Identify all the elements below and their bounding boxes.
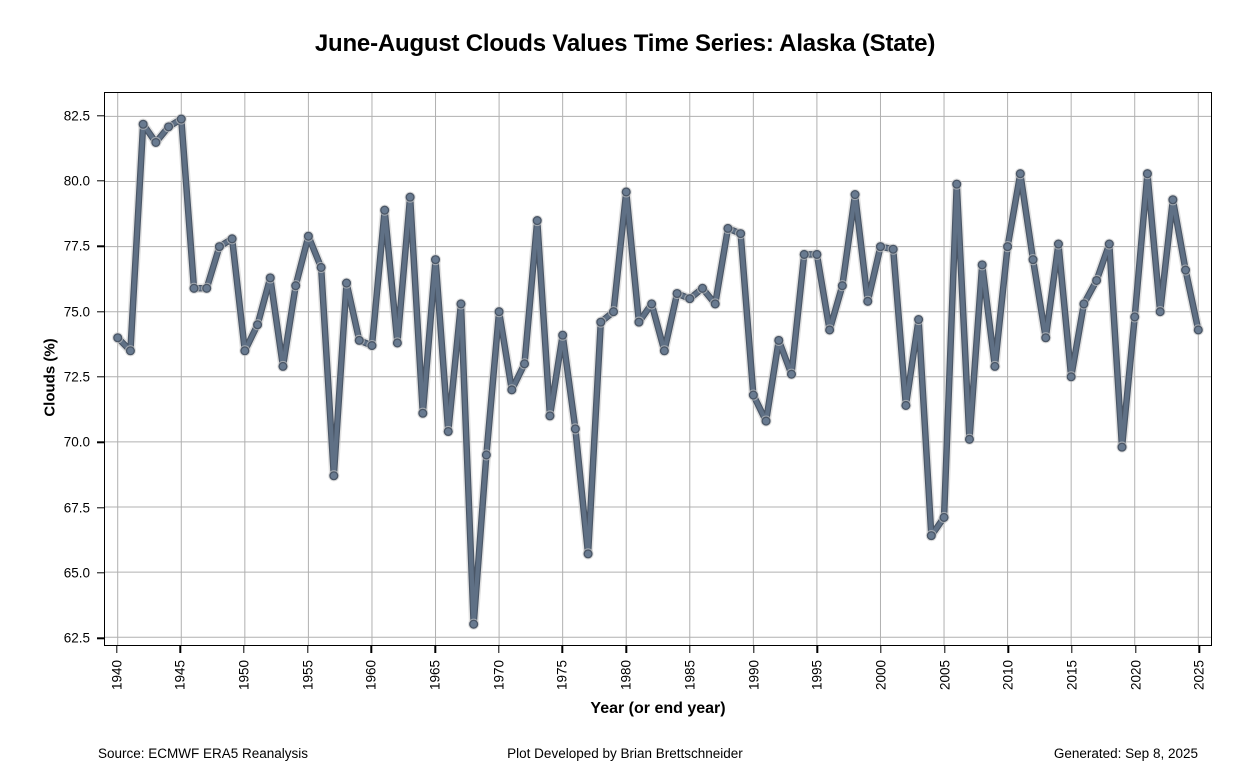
data-point[interactable]: 2016: 75.3% [1078,298,1089,309]
x-tick-mark [434,646,435,653]
data-point[interactable]: 2012: 77% [1027,254,1038,265]
data-point[interactable]: 1989: 78% [735,228,746,239]
x-tick-label: 1995 [810,660,825,690]
x-axis: 1940194519501955196019651970197519801985… [104,646,1212,736]
data-point[interactable]: 1993: 72.6% [786,369,797,380]
data-point[interactable]: 1985: 75.5% [684,293,695,304]
data-point[interactable]: 2011: 80.3% [1015,168,1026,179]
data-point[interactable]: 2019: 69.8% [1116,442,1127,453]
y-tick-label: 77.5 [64,239,90,254]
data-point[interactable]: 1941: 73.5% [125,345,136,356]
y-tick-label: 67.5 [64,500,90,515]
data-point[interactable]: 1988: 78.2% [722,223,733,234]
x-tick-label: 1960 [364,660,379,690]
y-tick-mark [97,572,104,573]
data-point[interactable]: 1952: 76.3% [265,272,276,283]
data-point[interactable]: 1955: 77.9% [303,231,314,242]
data-point[interactable]: 2006: 79.9% [951,179,962,190]
data-point[interactable]: 1977: 65.7% [582,548,593,559]
x-tick-label: 1975 [555,660,570,690]
x-tick-label: 1945 [173,660,188,690]
x-tick-label: 2020 [1128,660,1143,690]
data-point[interactable]: 1991: 70.8% [760,415,771,426]
x-tick-label: 2010 [1001,660,1016,690]
data-point[interactable]: 1965: 77% [430,254,441,265]
y-tick-mark [97,245,104,246]
x-tick-mark [243,646,244,653]
x-tick-label: 1985 [682,660,697,690]
data-point[interactable]: 2017: 76.2% [1091,275,1102,286]
x-tick-mark [180,646,181,653]
data-point[interactable]: 1992: 73.9% [773,335,784,346]
data-point[interactable]: 2000: 77.5% [875,241,886,252]
x-tick-mark [880,646,881,653]
x-tick-mark [753,646,754,653]
data-point[interactable]: 1974: 71% [544,410,555,421]
x-tick-mark [498,646,499,653]
data-point[interactable]: 1968: 63% [468,619,479,630]
data-point[interactable]: 2015: 72.5% [1066,371,1077,382]
plot-area: 1940: 74%1941: 73.5%1942: 82.2%1943: 81.… [104,92,1212,646]
x-tick-mark [371,646,372,653]
data-point[interactable]: 1949: 77.8% [227,233,238,244]
y-tick-label: 65.0 [64,565,90,580]
footer-generated: Generated: Sep 8, 2025 [1054,746,1198,761]
data-point[interactable]: 1940: 74% [112,332,123,343]
x-tick-label: 2015 [1064,660,1079,690]
data-point[interactable]: 1969: 69.5% [481,449,492,460]
data-point[interactable]: 1973: 78.5% [532,215,543,226]
data-point[interactable]: 2021: 80.3% [1142,168,1153,179]
data-point[interactable]: 1946: 75.9% [188,283,199,294]
y-tick-label: 80.0 [64,173,90,188]
chart-figure: June-August Clouds Values Time Series: A… [0,0,1250,780]
data-point[interactable]: 1966: 70.4% [443,426,454,437]
data-point[interactable]: 1979: 75% [608,306,619,317]
data-point[interactable]: 1986: 75.9% [697,283,708,294]
y-tick-mark [97,311,104,312]
x-tick-mark [689,646,690,653]
y-tick-label: 70.0 [64,435,90,450]
x-tick-mark [1199,646,1200,653]
x-tick-mark [307,646,308,653]
data-point[interactable]: 1943: 81.5% [150,137,161,148]
data-point[interactable]: 1980: 79.6% [621,186,632,197]
data-point[interactable]: 1983: 73.5% [659,345,670,356]
data-point[interactable]: 1945: 82.4% [176,113,187,124]
data-point[interactable]: 1958: 76.1% [341,277,352,288]
clouds-series[interactable]: 1940: 74%1941: 73.5%1942: 82.2%1943: 81.… [105,93,1211,645]
y-tick-mark [97,180,104,181]
data-point[interactable]: 2007: 70.1% [964,434,975,445]
data-point[interactable]: 2022: 75% [1155,306,1166,317]
x-tick-label: 1955 [300,660,315,690]
x-tick-label: 2025 [1192,660,1207,690]
x-axis-title: Year (or end year) [104,700,1212,718]
data-point[interactable]: 1964: 71.1% [417,408,428,419]
data-point[interactable]: 1999: 75.4% [862,296,873,307]
x-tick-mark [116,646,117,653]
data-point[interactable]: 1963: 79.4% [405,192,416,203]
data-point[interactable]: 2005: 67.1% [938,512,949,523]
data-point[interactable]: 1996: 74.3% [824,324,835,335]
data-point[interactable]: 2001: 77.4% [888,244,899,255]
data-point[interactable]: 1978: 74.6% [595,317,606,328]
data-point[interactable]: 1953: 72.9% [277,361,288,372]
footer: Source: ECMWF ERA5 Reanalysis Plot Devel… [0,746,1250,770]
data-point[interactable]: 2024: 76.6% [1180,264,1191,275]
data-point[interactable]: 1942: 82.2% [138,119,149,130]
x-tick-label: 2005 [937,660,952,690]
data-point[interactable]: 1995: 77.2% [811,249,822,260]
data-point[interactable]: 1994: 77.2% [799,249,810,260]
y-tick-mark [97,637,104,638]
x-tick-label: 1980 [619,660,634,690]
data-point[interactable]: 2008: 76.8% [977,259,988,270]
data-point[interactable]: 1961: 78.9% [379,205,390,216]
data-point[interactable]: 2003: 74.7% [913,314,924,325]
x-tick-label: 1950 [237,660,252,690]
data-point[interactable]: 2023: 79.3% [1167,194,1178,205]
data-point[interactable]: 2025: 74.3% [1193,324,1204,335]
data-point[interactable]: 1987: 75.3% [710,298,721,309]
data-point[interactable]: 1956: 76.7% [316,262,327,273]
data-point[interactable]: 1981: 74.6% [633,317,644,328]
x-tick-label: 2000 [873,660,888,690]
data-point[interactable]: 1947: 75.9% [201,283,212,294]
data-point[interactable]: 2014: 77.6% [1053,238,1064,249]
data-point[interactable]: 2002: 71.4% [900,400,911,411]
data-point[interactable]: 1972: 73% [519,358,530,369]
data-point[interactable]: 1960: 73.7% [366,340,377,351]
x-tick-mark [562,646,563,653]
data-point[interactable]: 1984: 75.7% [671,288,682,299]
data-point[interactable]: 1951: 74.5% [252,319,263,330]
data-point[interactable]: 2004: 66.4% [926,530,937,541]
data-point[interactable]: 1976: 70.5% [570,423,581,434]
data-point[interactable]: 1957: 68.7% [328,470,339,481]
x-tick-label: 1990 [746,660,761,690]
data-point[interactable]: 2018: 77.6% [1104,238,1115,249]
x-tick-label: 1965 [428,660,443,690]
data-point[interactable]: 1982: 75.3% [646,298,657,309]
data-point[interactable]: 1997: 76% [837,280,848,291]
data-point[interactable]: 1998: 79.5% [849,189,860,200]
x-tick-mark [816,646,817,653]
data-point[interactable]: 2010: 77.5% [1002,241,1013,252]
x-tick-label: 1940 [109,660,124,690]
page-title: June-August Clouds Values Time Series: A… [0,30,1250,58]
data-point[interactable]: 1950: 73.5% [239,345,250,356]
data-point[interactable]: 1970: 75% [494,306,505,317]
data-point[interactable]: 1962: 73.8% [392,337,403,348]
data-point[interactable]: 1944: 82.1% [163,121,174,132]
y-tick-mark [97,507,104,508]
y-tick-mark [97,441,104,442]
data-point[interactable]: 1959: 73.9% [354,335,365,346]
x-tick-mark [944,646,945,653]
data-point[interactable]: 2020: 74.8% [1129,311,1140,322]
data-point[interactable]: 1954: 76% [290,280,301,291]
x-tick-mark [1071,646,1072,653]
y-tick-label: 62.5 [64,631,90,646]
y-tick-mark [97,115,104,116]
data-point[interactable]: 1971: 72% [506,384,517,395]
data-point[interactable]: 1967: 75.3% [455,298,466,309]
y-tick-label: 75.0 [64,304,90,319]
x-tick-mark [1008,646,1009,653]
x-tick-mark [1135,646,1136,653]
data-point[interactable]: 1975: 74.1% [557,330,568,341]
data-point[interactable]: 2013: 74% [1040,332,1051,343]
data-point[interactable]: 1990: 71.8% [748,389,759,400]
y-axis: 62.565.067.570.072.575.077.580.082.5 [0,92,104,646]
y-tick-label: 72.5 [64,369,90,384]
x-tick-label: 1970 [491,660,506,690]
y-tick-mark [97,376,104,377]
data-point[interactable]: 1948: 77.5% [214,241,225,252]
y-tick-label: 82.5 [64,108,90,123]
x-tick-mark [625,646,626,653]
data-point[interactable]: 2009: 72.9% [989,361,1000,372]
